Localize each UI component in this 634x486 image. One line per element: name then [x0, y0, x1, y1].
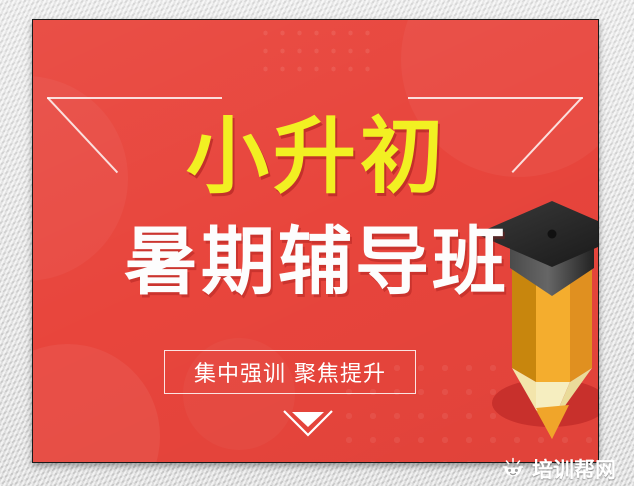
tagline-block: 集中强训 聚焦提升 — [33, 239, 599, 399]
watermark-text: 培训帮网 — [532, 460, 616, 481]
sun-face-icon — [501, 456, 525, 485]
watermark: 培训帮网 — [495, 457, 622, 484]
poster-page: 小升初 暑期辅导班 集中强训 聚焦提升 — [0, 0, 634, 486]
chevron-down-icon — [278, 405, 338, 439]
poster-banner: 小升初 暑期辅导班 集中强训 聚焦提升 — [32, 19, 599, 463]
page-title-primary: 小升初 — [33, 115, 599, 198]
tagline-text: 集中强训 聚焦提升 — [164, 350, 416, 394]
